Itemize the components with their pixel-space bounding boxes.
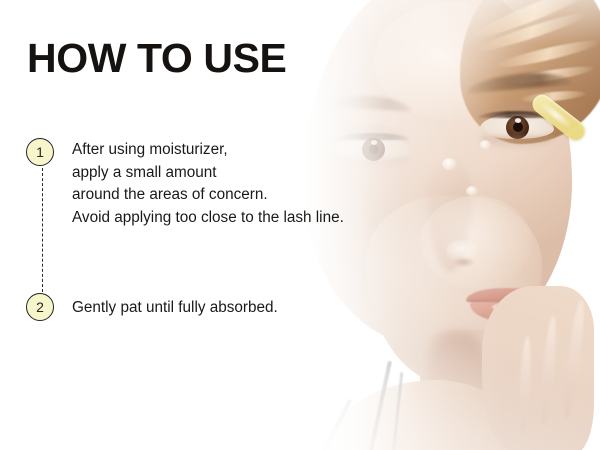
page-title: HOW TO USE (27, 38, 286, 79)
step-description: Gently pat until fully absorbed. (72, 297, 278, 320)
step-description: After using moisturizer, apply a small a… (72, 139, 344, 229)
list-item: 2 Gently pat until fully absorbed. (26, 293, 426, 321)
list-item: 1 After using moisturizer, apply a small… (26, 138, 426, 229)
how-to-use-poster: HOW TO USE 1 After using moisturizer, ap… (0, 0, 600, 450)
step-number-badge: 2 (26, 293, 54, 321)
step-number-badge: 1 (26, 138, 54, 166)
steps-list: 1 After using moisturizer, apply a small… (26, 138, 426, 321)
